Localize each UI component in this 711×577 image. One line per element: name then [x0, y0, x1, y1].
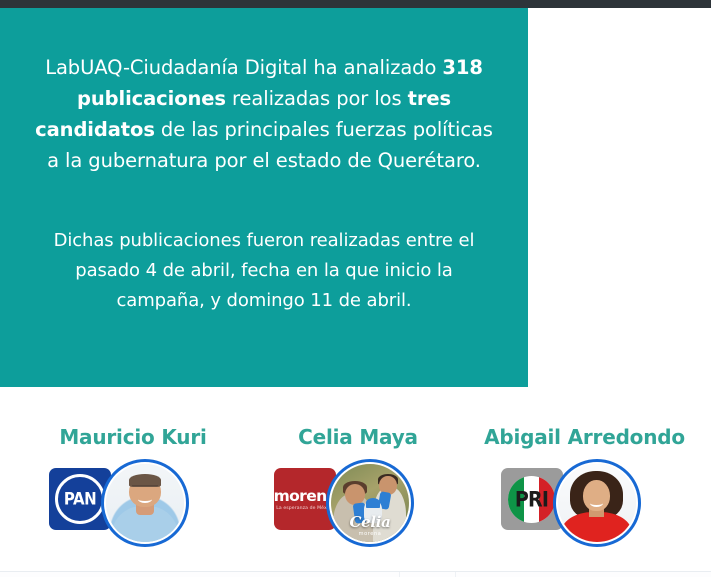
photo-glasses-shape: [132, 485, 159, 491]
info-paragraph-primary: LabUAQ-Ciudadanía Digital ha analizado 3…: [30, 52, 498, 176]
window-chrome-bar: [0, 0, 711, 8]
candidate-photo-abigail-arredondo: [558, 464, 636, 542]
photo-caption-block: Celia morena: [331, 515, 409, 537]
photo-caption-party: morena: [331, 531, 409, 537]
candidate-media-mauricio-kuri: PAN: [49, 459, 217, 549]
info-paragraph-secondary: Dichas publicaciones fueron realizadas e…: [30, 226, 498, 316]
avatar-abigail-arredondo: [553, 459, 641, 547]
info-text-lead: LabUAQ-Ciudadanía Digital ha analizado: [45, 56, 442, 79]
bottom-band: [0, 572, 711, 577]
info-text-mid: realizadas por los: [226, 87, 408, 110]
candidate-name-celia-maya: Celia Maya: [298, 425, 418, 449]
pri-circle-shape: PRI: [508, 476, 555, 523]
info-panel: LabUAQ-Ciudadanía Digital ha analizado 3…: [0, 8, 528, 387]
band-segment-divider-2: [455, 572, 456, 577]
candidate-photo-mauricio-kuri: [106, 464, 184, 542]
avatar-photo-frame: [558, 464, 636, 542]
candidate-name-mauricio-kuri: Mauricio Kuri: [59, 425, 206, 449]
candidate-photo-celia-maya: Celia morena: [331, 464, 409, 542]
avatar-photo-frame: Celia morena: [331, 464, 409, 542]
candidate-card-abigail-arredondo: Abigail Arredondo PRI: [458, 425, 711, 549]
avatar-photo-frame: [106, 464, 184, 542]
photo-smile-shape: [138, 495, 152, 502]
candidate-card-mauricio-kuri: Mauricio Kuri PAN: [0, 425, 258, 549]
photo-caption-name: Celia: [331, 515, 409, 530]
candidate-media-abigail-arredondo: PRI: [501, 459, 669, 549]
candidate-name-abigail-arredondo: Abigail Arredondo: [484, 425, 685, 449]
candidate-strip: Mauricio Kuri PAN: [0, 425, 711, 573]
pan-ring-shape: PAN: [55, 474, 105, 524]
slide-canvas: LabUAQ-Ciudadanía Digital ha analizado 3…: [0, 0, 711, 577]
photo-baby-hat: [366, 498, 380, 507]
avatar-celia-maya: Celia morena: [326, 459, 414, 547]
pri-logo-label: PRI: [508, 476, 555, 523]
band-segment-divider-1: [399, 572, 400, 577]
pan-logo-label: PAN: [64, 489, 96, 510]
candidate-media-celia-maya: morena La esperanza de México: [274, 459, 442, 549]
candidate-card-celia-maya: Celia Maya morena La esperanza de México: [258, 425, 458, 549]
avatar-mauricio-kuri: [101, 459, 189, 547]
